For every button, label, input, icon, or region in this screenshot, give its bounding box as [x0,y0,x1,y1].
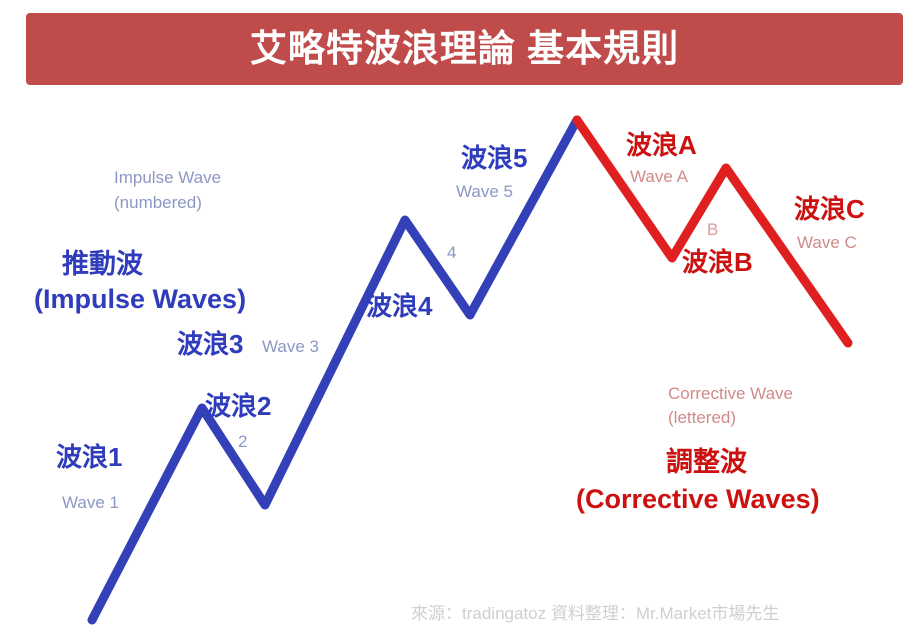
label-wave1-cjk: 波浪1 [56,443,122,472]
label-wave2-cjk: 波浪2 [205,392,271,421]
label-waveC-cjk: 波浪C [794,195,865,224]
footer-credit: 來源：tradingatoz 資料整理：Mr.Market市場先生 [411,599,779,624]
legend-corrective-en-line1: Corrective Wave [668,384,793,403]
label-waveA-cjk: 波浪A [626,131,697,160]
label-wave1-en: Wave 1 [62,493,119,512]
label-wave3-cjk: 波浪3 [177,330,243,359]
legend-impulse-cjk-line1: 推動波 [62,249,143,279]
legend-impulse-en-line2: (numbered) [114,193,221,212]
legend-corrective-cjk-line1: 調整波 [666,447,747,477]
label-waveA-en: Wave A [630,167,688,186]
label-waveC-en: Wave C [797,233,857,252]
legend-corrective-en-line2: (lettered) [668,408,736,427]
legend-impulse-en-line1: Impulse Wave [114,168,221,187]
label-waveB-cjk: 波浪B [682,248,753,277]
label-wave5-cjk: 波浪5 [461,144,527,173]
diagram-canvas: 艾略特波浪理論 基本規則 Impulse Wave (numbered) 推動波… [0,0,909,640]
label-wave4-cjk: 波浪4 [366,292,432,321]
legend-corrective-cjk-line2: (Corrective Waves) [576,484,820,514]
legend-impulse-english: Impulse Wave (numbered) [114,168,221,212]
elliott-wave-chart [0,0,909,640]
legend-impulse-cjk-line2: (Impulse Waves) [34,284,246,314]
label-wave5-en: Wave 5 [456,182,513,201]
marker-waveB: B [707,220,718,240]
label-wave3-en: Wave 3 [262,337,319,356]
marker-wave4: 4 [447,243,456,263]
marker-wave2: 2 [238,432,247,452]
